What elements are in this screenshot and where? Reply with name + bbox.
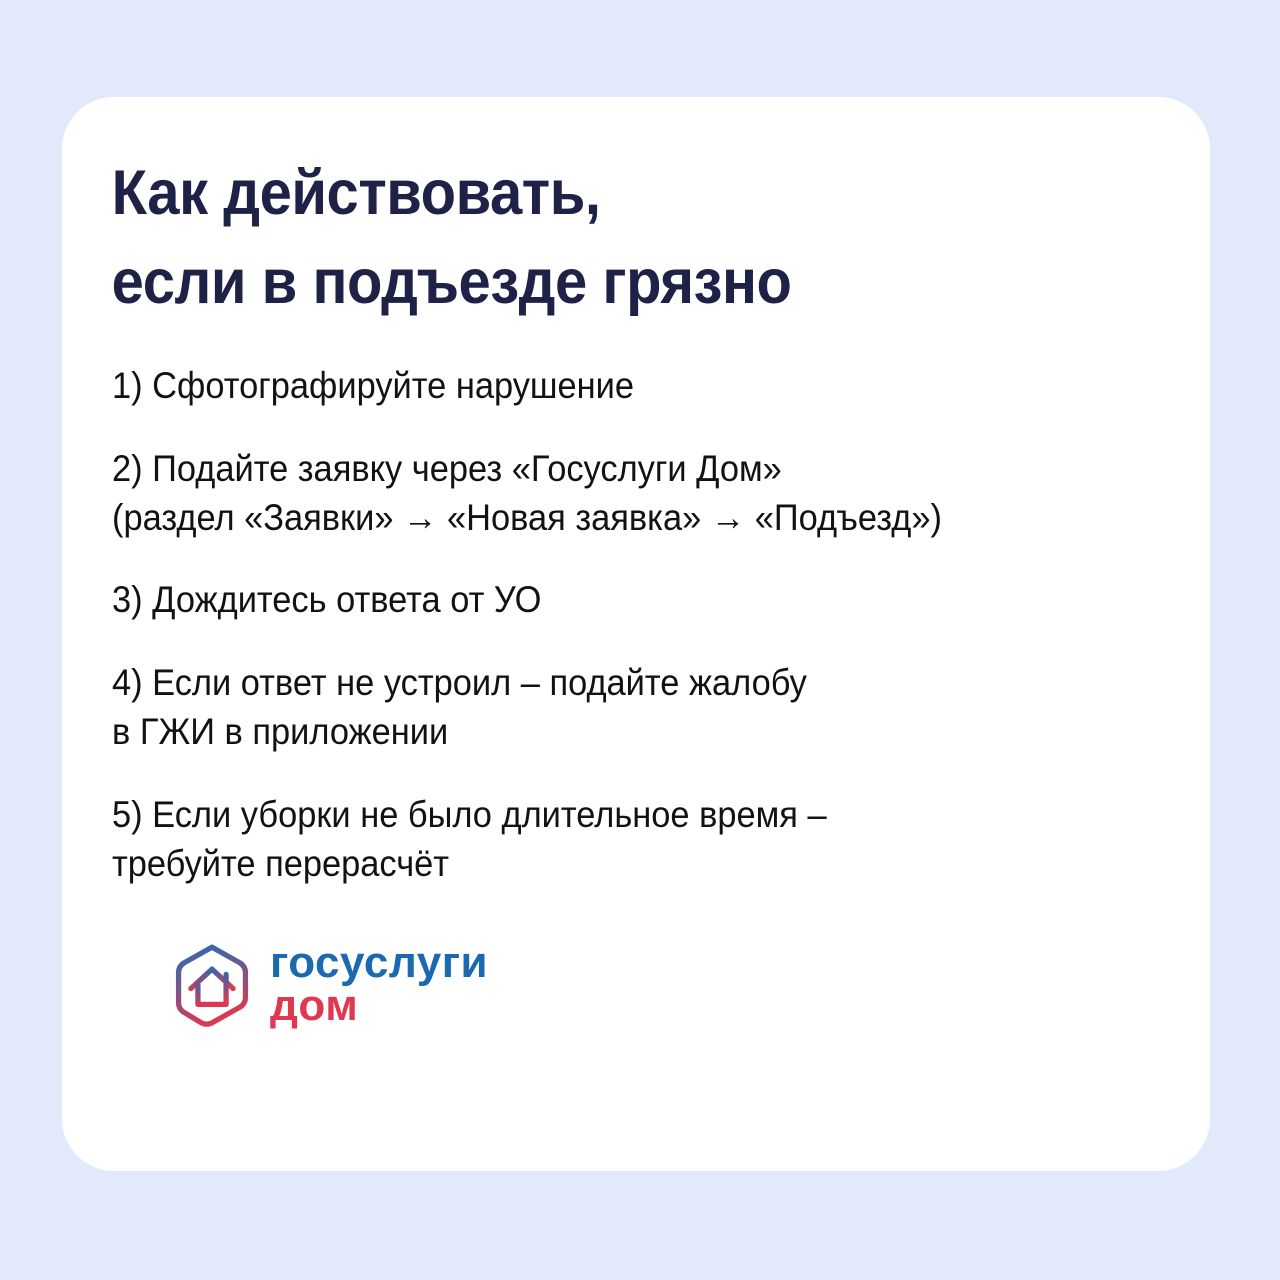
list-item: 2) Подайте заявку через «Госуслуги Дом» … <box>112 445 1081 543</box>
logo-text-gosuslugi: госуслуги <box>270 941 488 984</box>
list-item: 4) Если ответ не устроил – подайте жалоб… <box>112 659 1081 757</box>
logo-wordmark: госуслуги дом <box>270 941 488 1029</box>
list-item: 3) Дождитесь ответа от УО <box>112 576 1081 625</box>
list-item: 5) Если уборки не было длительное время … <box>112 791 1081 889</box>
info-card: Как действовать, если в подъезде грязно … <box>62 97 1210 1171</box>
gosuslugi-dom-house-hexagon-icon <box>168 941 256 1029</box>
logo-text-dom: дом <box>270 984 488 1027</box>
list-item: 1) Сфотографируйте нарушение <box>112 362 1081 411</box>
page-title: Как действовать, если в подъезде грязно <box>108 149 1070 328</box>
steps-list: 1) Сфотографируйте нарушение 2) Подайте … <box>108 328 1154 889</box>
gosuslugi-dom-logo: госуслуги дом <box>168 941 488 1029</box>
